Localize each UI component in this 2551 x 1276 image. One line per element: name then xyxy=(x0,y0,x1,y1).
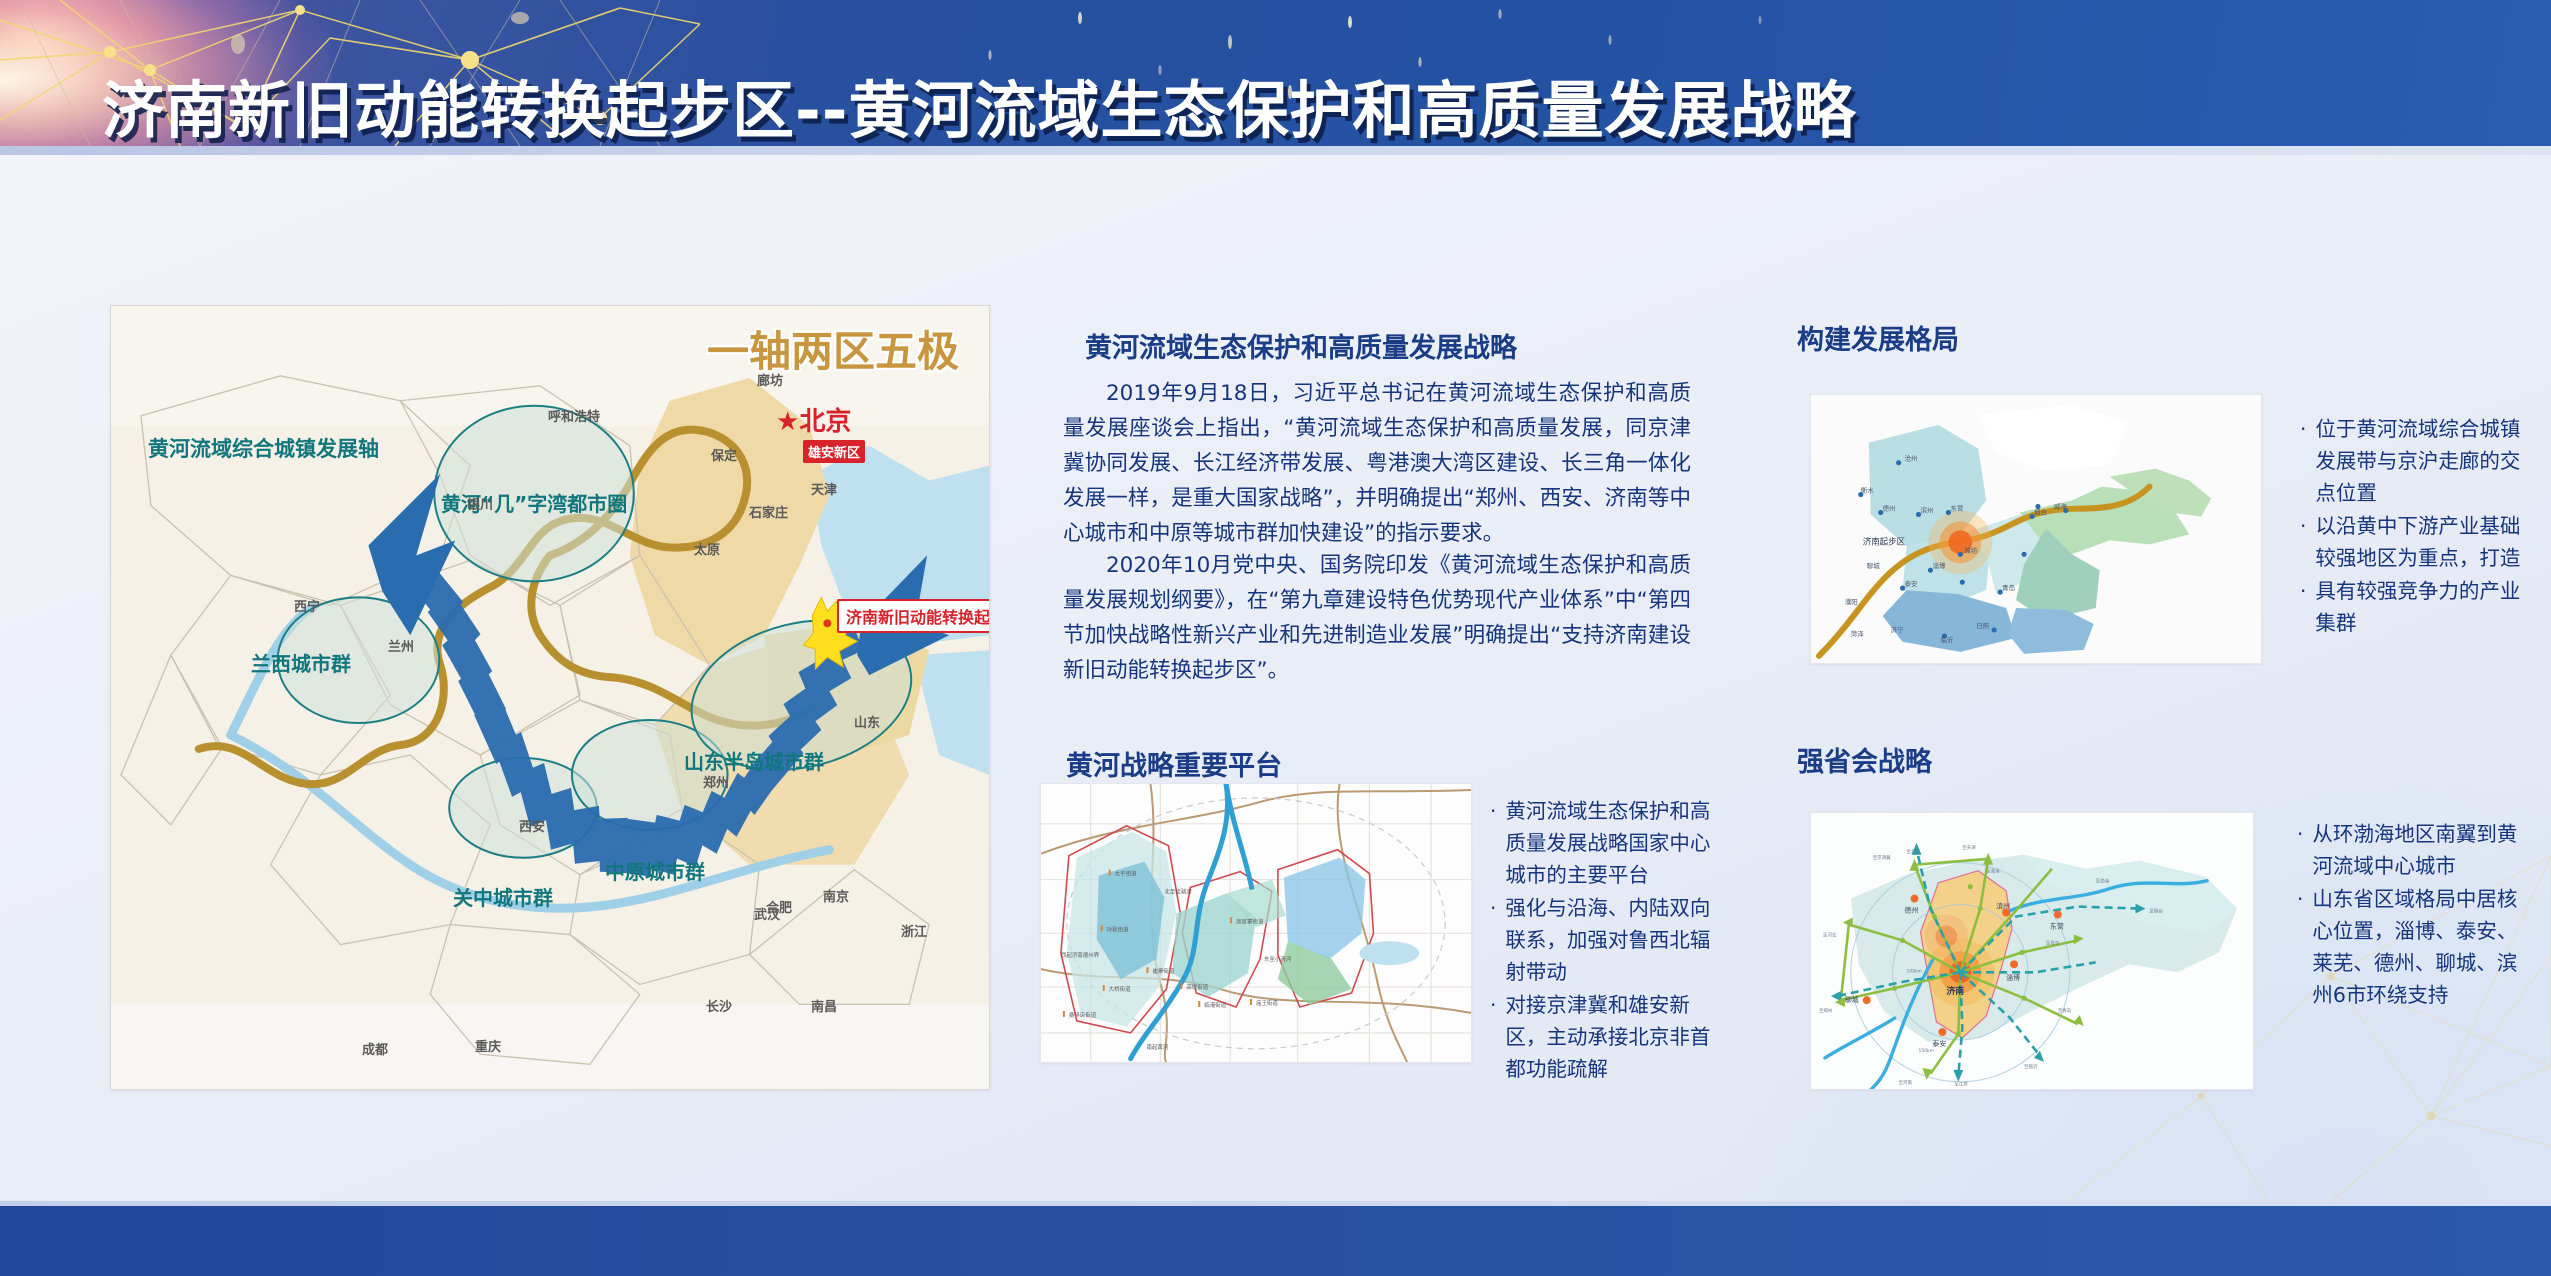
city-label: 淄博 xyxy=(2006,973,2020,982)
map-city-taiyuan: 太原 xyxy=(694,539,720,558)
svg-text:淄博: 淄博 xyxy=(1932,561,1945,570)
bullet-dot: · xyxy=(1490,989,1496,1021)
svg-text:威海: 威海 xyxy=(2054,501,2067,510)
city-label: 泰安 xyxy=(1932,1039,1946,1048)
list-item: ·对接京津冀和雄安新区，主动承接北京非首都功能疏解 xyxy=(1490,989,1718,1085)
svg-text:至江苏: 至江苏 xyxy=(1954,1081,1968,1088)
street-label: 东至小清河 xyxy=(1264,955,1292,963)
thumbnail-jinan-metro-circle-map[interactable]: 德州 滨州 东营 聊城 淄博 泰安 济南 至京津冀至北京 至天津至渤海 至渤海至… xyxy=(1810,812,2254,1090)
street-label: 孙耿街道 xyxy=(1107,925,1129,933)
city-label: 聊城 xyxy=(1845,995,1859,1004)
map-city-nanchang: 南昌 xyxy=(811,996,837,1015)
map-label-cluster-shandong: 山东半岛城市群 xyxy=(684,746,824,775)
list-item: ·黄河流域生态保护和高质量发展战略国家中心城市的主要平台 xyxy=(1490,795,1718,891)
thumbnail-shandong-location-map[interactable]: 沧州衡水 德州滨州 东营烟台 威海聊城 淄博潍坊 青岛泰安 濮阳济宁 菏泽临沂 … xyxy=(1810,394,2262,664)
list-item: ·山东省区域格局中居核心位置，淄博、泰安、莱芜、德州、聊城、滨州6市环绕支持 xyxy=(2297,883,2533,1011)
star-icon: ★ xyxy=(776,407,799,437)
bullet-dot: · xyxy=(1490,795,1496,827)
svg-text:至青岛: 至青岛 xyxy=(2058,1007,2072,1014)
svg-text:至渤海: 至渤海 xyxy=(2096,878,2110,885)
bullet-dot: · xyxy=(2300,413,2306,445)
svg-text:青岛: 青岛 xyxy=(2002,583,2015,592)
shandong-location-map: 沧州衡水 德州滨州 东营烟台 威海聊城 淄博潍坊 青岛泰安 濮阳济宁 菏泽临沂 … xyxy=(1811,395,2261,664)
section-paragraph-1: 2019年9月18日，习近平总书记在黄河流域生态保护和高质量发展座谈会上指出，“… xyxy=(1063,376,1691,551)
svg-text:聊城: 聊城 xyxy=(1867,561,1880,570)
street-label: 太平街道 xyxy=(1115,870,1137,878)
svg-text:至郑州: 至郑州 xyxy=(1819,1007,1832,1014)
svg-text:衡水: 衡水 xyxy=(1861,486,1874,495)
svg-text:濮阳: 濮阳 xyxy=(1845,597,1858,606)
section-title-develop-pattern: 构建发展格局 xyxy=(1797,318,1959,357)
section-title-huanghe-strategy: 黄河流域生态保护和高质量发展战略 xyxy=(1085,326,1517,365)
bullet-dot: · xyxy=(1490,892,1496,924)
svg-text:临沂: 临沂 xyxy=(1940,635,1953,644)
map-city-yinchuan: 银川 xyxy=(467,494,493,513)
svg-text:德州: 德州 xyxy=(1883,503,1896,512)
section-title-huanghe-platform: 黄河战略重要平台 xyxy=(1066,744,1282,783)
street-label: 高官寨街道 xyxy=(1236,917,1264,925)
svg-text:东营: 东营 xyxy=(1950,503,1963,512)
map-city-changsha: 长沙 xyxy=(706,996,732,1015)
map-label-cluster-lanxi: 兰西城市群 xyxy=(251,648,351,677)
svg-text:沧州: 沧州 xyxy=(1905,454,1918,463)
bullets-develop-pattern: ·位于黄河流域综合城镇发展带与京沪走廊的交点位置 ·以沿黄中下游产业基础较强地区… xyxy=(2300,413,2530,640)
svg-text:至烟台: 至烟台 xyxy=(2149,908,2163,915)
map-city-lanzhou: 兰州 xyxy=(388,636,414,655)
map-city-zhejiang: 浙江 xyxy=(901,921,927,940)
list-item: ·从环渤海地区南翼到黄河流域中心城市 xyxy=(2297,818,2533,882)
street-label: 临港街道 xyxy=(1204,1001,1226,1009)
street-label: 高堤街道 xyxy=(1186,983,1208,991)
section-paragraph-2: 2020年10月党中央、国务院印发《黄河流域生态保护和高质量发展规划纲要》，在“… xyxy=(1063,548,1691,688)
map-city-xian: 西安 xyxy=(519,816,545,835)
map-city-hefei: 合肥 xyxy=(766,897,792,916)
bullet-dot: · xyxy=(2297,883,2303,915)
map-label-axis: 黄河流域综合城镇发展轴 xyxy=(148,433,379,463)
svg-text:至北京: 至北京 xyxy=(1907,848,1921,855)
main-map-panel[interactable]: 一轴两区五极 黄河流域综合城镇发展轴 黄河“几”字湾都市圈 兰西城市群 关中城市… xyxy=(110,305,990,1090)
map-city-chongqing: 重庆 xyxy=(475,1036,501,1055)
list-item: ·位于黄河流域综合城镇发展带与京沪走廊的交点位置 xyxy=(2300,413,2530,509)
street-label: 大桥街道 xyxy=(1109,985,1131,993)
map-city-shandong: 山东 xyxy=(854,712,880,731)
qibuqu-streets-map: 太平街道 北至徒骇河 孙耿街道 高官寨街道 崔寨街道 大桥街道 桑梓店街道 高堤… xyxy=(1041,784,1471,1063)
street-label: 南起黄河 xyxy=(1147,1043,1169,1051)
list-item: ·具有较强竞争力的产业集群 xyxy=(2300,575,2530,639)
city-label: 东营 xyxy=(2050,921,2064,930)
street-label: 桑梓店街道 xyxy=(1069,1011,1097,1019)
map-city-xining: 西宁 xyxy=(294,596,320,615)
bullets-huanghe-platform: ·黄河流域生态保护和高质量发展战略国家中心城市的主要平台 ·强化与沿海、内陆双向… xyxy=(1490,795,1718,1086)
map-city-hohhot: 呼和浩特 xyxy=(548,406,600,425)
city-label: 德州 xyxy=(1905,906,1919,915)
svg-text:潍坊: 潍坊 xyxy=(1964,545,1977,554)
svg-text:济宁: 济宁 xyxy=(1891,625,1904,634)
bullet-dot: · xyxy=(2297,818,2303,850)
svg-text:至河北: 至河北 xyxy=(1823,931,1837,938)
svg-text:烟台: 烟台 xyxy=(2034,507,2047,516)
header-banner: 济南新旧动能转换起步区--黄河流域生态保护和高质量发展战略 xyxy=(0,0,2551,146)
map-label-beijing: ★北京 xyxy=(776,401,851,438)
svg-text:150km: 150km xyxy=(1919,1048,1934,1054)
thumbnail-qibuqu-streets-map[interactable]: 太平街道 北至徒骇河 孙耿街道 高官寨街道 崔寨街道 大桥街道 桑梓店街道 高堤… xyxy=(1040,783,1472,1063)
map-highlight-box-qibuqu[interactable]: 济南新旧动能转换起步区 xyxy=(837,599,990,633)
city-label: 滨州 xyxy=(1996,902,2010,911)
svg-text:100km: 100km xyxy=(1907,968,1922,974)
bullet-dot: · xyxy=(2300,575,2306,607)
svg-text:菏泽: 菏泽 xyxy=(1851,629,1864,638)
page-title: 济南新旧动能转换起步区--黄河流域生态保护和高质量发展战略 xyxy=(102,60,1856,146)
street-label: 崔寨街道 xyxy=(1152,967,1174,975)
map-city-tianjin: 天津 xyxy=(811,479,837,498)
svg-text:泰安: 泰安 xyxy=(1905,579,1918,588)
slide-canvas: 济南新旧动能转换起步区--黄河流域生态保护和高质量发展战略 xyxy=(0,0,2551,1276)
svg-text:滨州: 滨州 xyxy=(1921,505,1934,514)
header-underline xyxy=(0,146,2551,155)
map-label-cluster-guanzhong: 关中城市群 xyxy=(453,882,553,911)
svg-text:至河南: 至河南 xyxy=(1899,1079,1913,1086)
city-label-jinan: 济南 xyxy=(1946,985,1964,997)
map-city-nanjing: 南京 xyxy=(823,886,849,905)
thumb-label-jinan-start-zone: 济南起步区 xyxy=(1863,536,1906,546)
svg-text:日照: 日照 xyxy=(1976,622,1989,630)
svg-text:至青岛: 至青岛 xyxy=(2046,939,2060,946)
footer-banner xyxy=(0,1206,2551,1276)
street-label: 庙王街道 xyxy=(1256,999,1278,1007)
svg-text:至渤海: 至渤海 xyxy=(1986,868,2000,875)
map-city-langfang: 廊坊 xyxy=(757,370,783,389)
bullets-strong-provincial-capital: ·从环渤海地区南翼到黄河流域中心城市 ·山东省区域格局中居核心位置，淄博、泰安、… xyxy=(2297,818,2533,1012)
map-headline: 一轴两区五极 xyxy=(707,318,959,379)
list-item: ·以沿黄中下游产业基础较强地区为重点，打造 xyxy=(2300,510,2530,574)
list-item: ·强化与沿海、内陆双向联系，加强对鲁西北辐射带动 xyxy=(1490,892,1718,988)
svg-text:至临沂: 至临沂 xyxy=(2024,1063,2038,1070)
map-label-cluster-zhongyuan: 中原城市群 xyxy=(605,856,705,885)
map-city-zhengzhou: 郑州 xyxy=(703,772,729,791)
map-city-shijiazhuang: 石家庄 xyxy=(749,502,788,521)
map-city-baoding: 保定 xyxy=(711,445,737,464)
map-label-xiongan: 雄安新区 xyxy=(803,440,865,463)
jinan-metro-circle-map: 德州 滨州 东营 聊城 淄博 泰安 济南 至京津冀至北京 至天津至渤海 至渤海至… xyxy=(1811,813,2253,1090)
svg-text:至天津: 至天津 xyxy=(1962,844,1976,851)
street-label: 西起济南德州界 xyxy=(1061,951,1100,959)
svg-text:至京津冀: 至京津冀 xyxy=(1873,854,1891,861)
bullet-dot: · xyxy=(2300,510,2306,542)
map-city-chengdu: 成都 xyxy=(362,1039,388,1058)
section-title-strong-provincial-capital: 强省会战略 xyxy=(1797,740,1932,779)
street-label: 北至徒骇河 xyxy=(1164,887,1192,895)
